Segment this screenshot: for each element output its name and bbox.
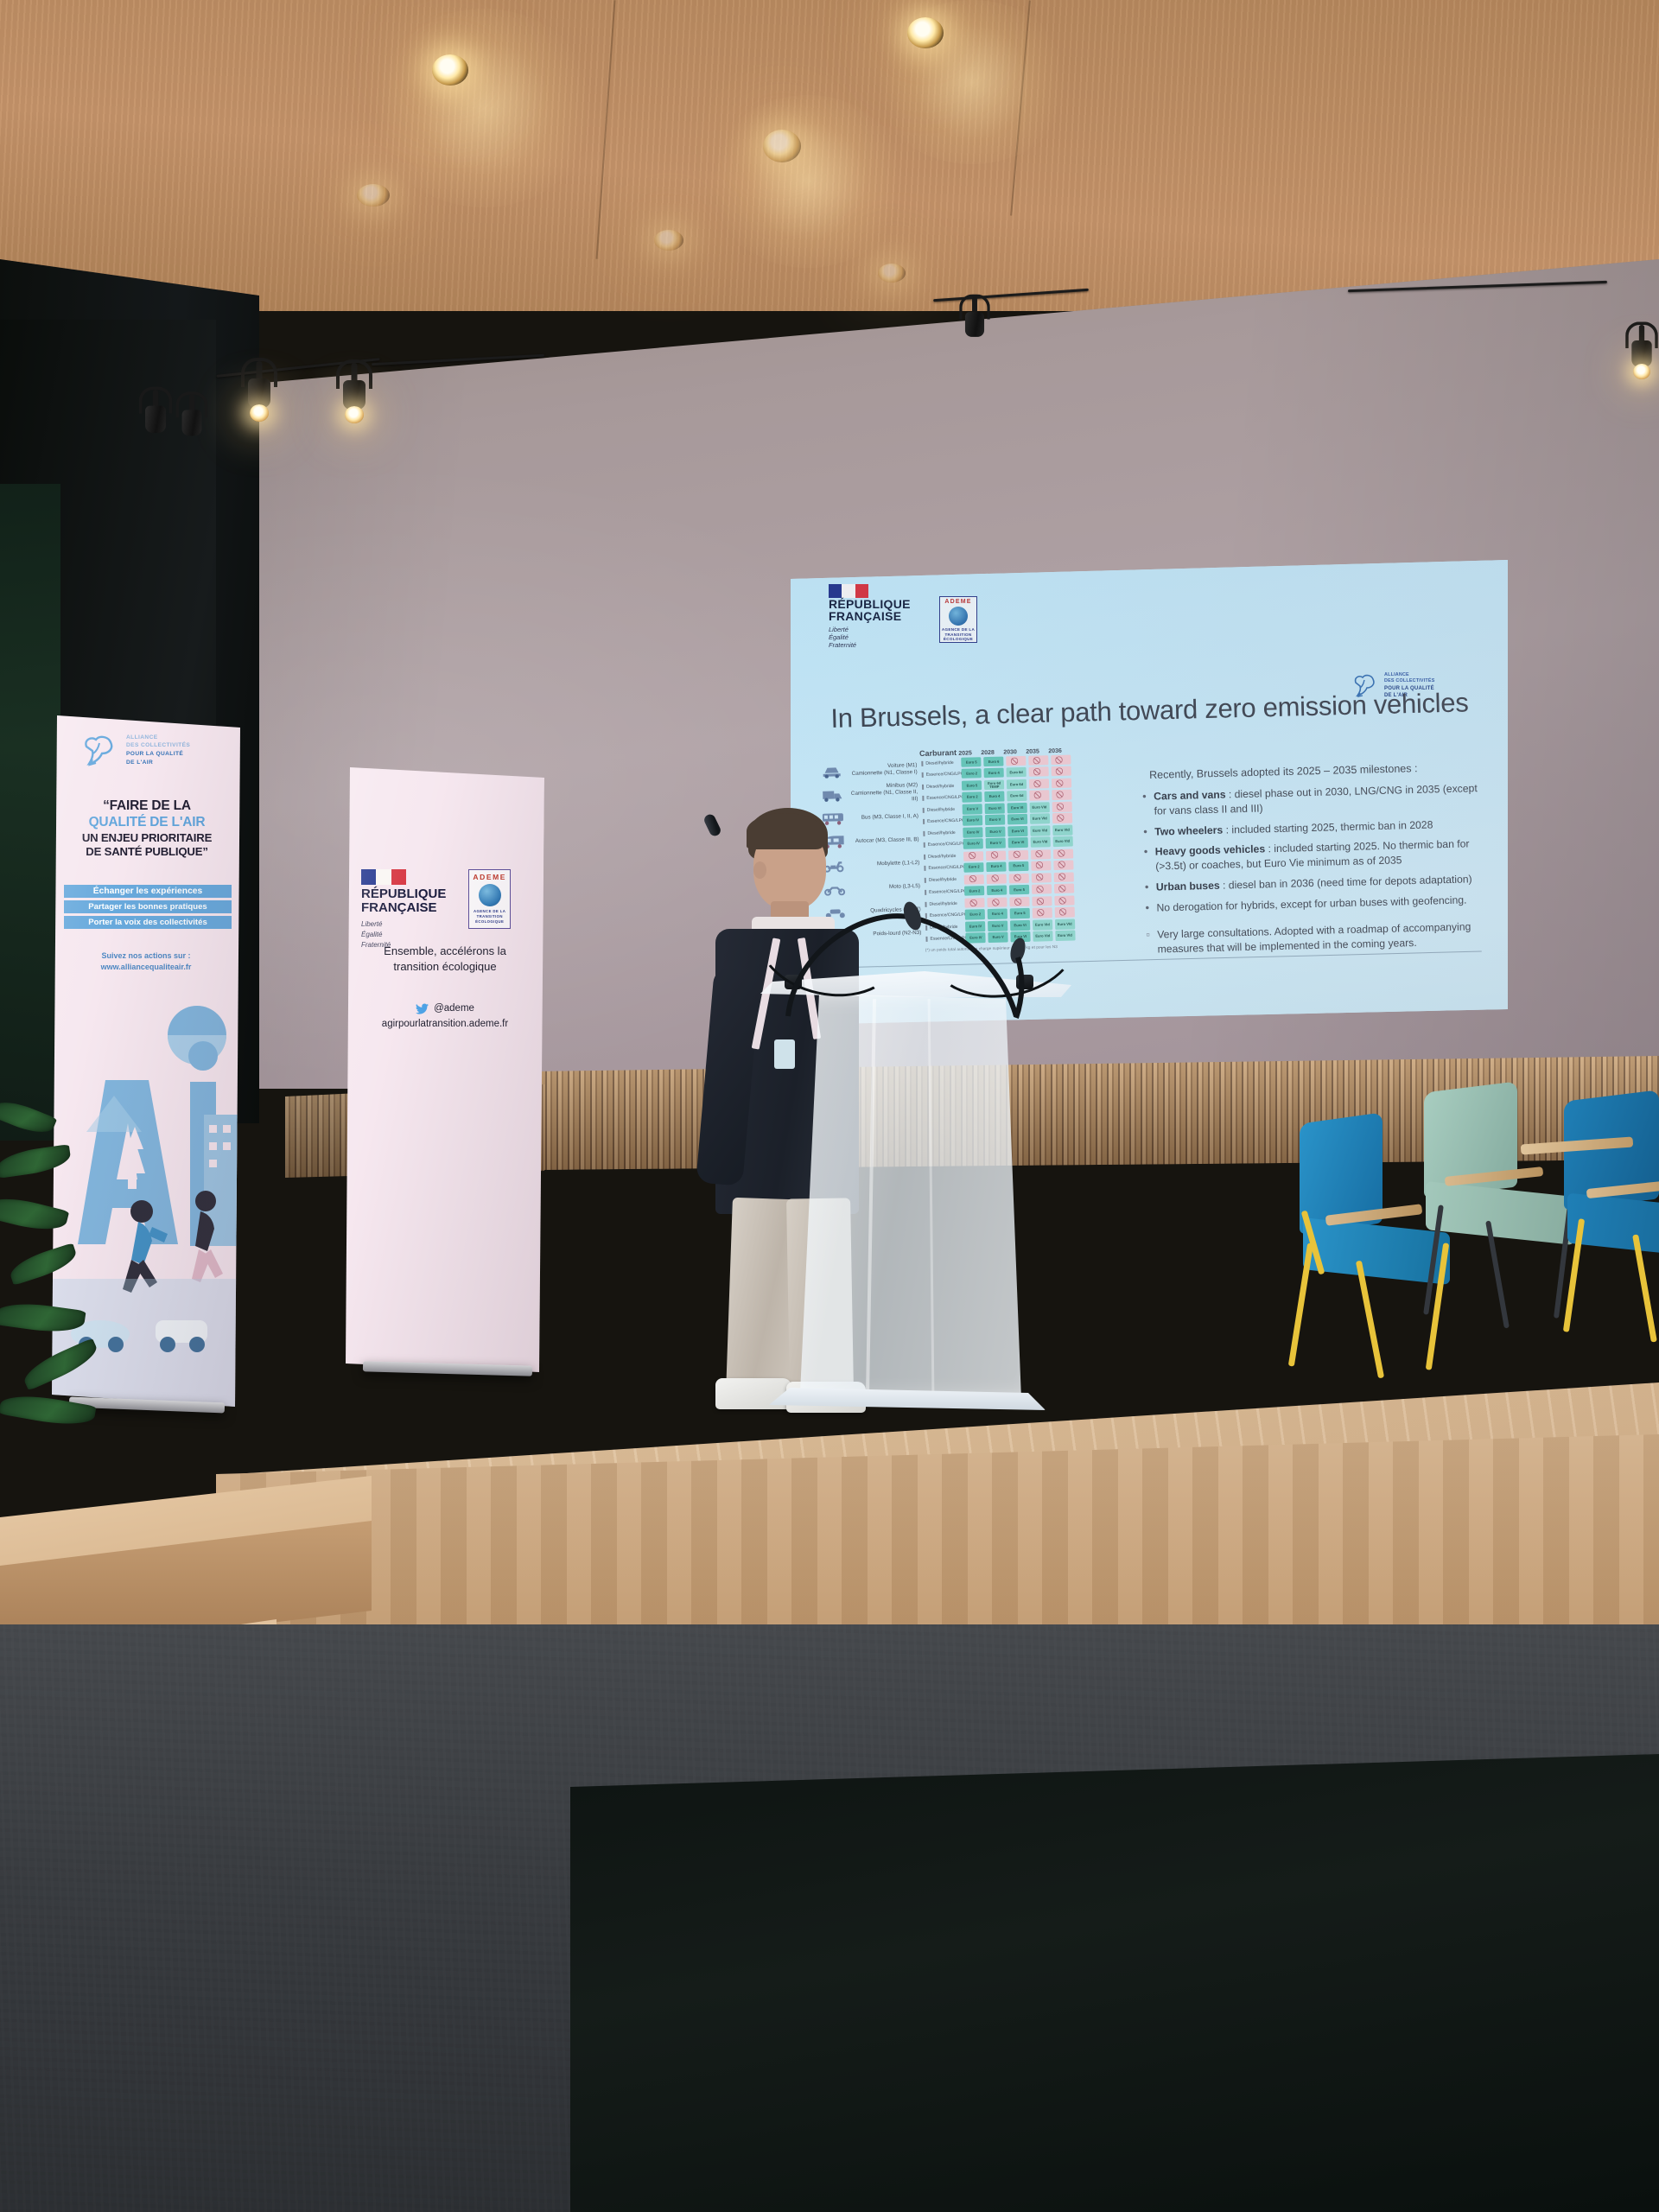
republique-francaise-block: RÉPUBLIQUE FRANÇAISE Liberté Égalité Fra… <box>361 869 446 950</box>
stage-spotlight <box>960 297 989 356</box>
curtain-greenery <box>0 484 60 1141</box>
potted-plant <box>0 1089 104 1452</box>
ceiling-downlight-4 <box>357 184 390 207</box>
lectern <box>760 956 1071 1440</box>
alliance-website: www.alliancequaliteair.fr <box>52 962 240 973</box>
globe-icon <box>479 884 501 906</box>
foreground-equipment-block <box>570 1754 1659 2212</box>
alliance-banner-logo-text: ALLIANCE DES COLLECTIVITÉS POUR LA QUALI… <box>126 734 190 766</box>
conference-photo: RÉPUBLIQUE FRANÇAISE LibertéÉgalitéFrate… <box>0 0 1659 2212</box>
slogan-line-1: Ensemble, accélérons la <box>346 944 544 959</box>
wooden-ceiling <box>0 0 1659 311</box>
ceiling-downlight-3 <box>907 17 944 48</box>
follow-label: Suivez nos actions sur : <box>52 950 240 962</box>
rf-line2: FRANÇAISE <box>361 901 446 915</box>
lung-bird-icon <box>79 733 121 767</box>
microphone-right[interactable] <box>952 921 1065 1007</box>
bar-echanger: Échanger les expériences <box>64 885 232 898</box>
microphone-left[interactable] <box>766 921 878 1007</box>
ear <box>753 861 766 879</box>
alliance-banner-follow: Suivez nos actions sur : www.alliancequa… <box>52 950 240 973</box>
ceiling-downlight-6 <box>878 264 906 283</box>
twitter-icon <box>416 1003 429 1014</box>
stage-spotlight <box>1626 325 1657 387</box>
slogan-line-2: transition écologique <box>346 959 544 975</box>
bar-porter: Porter la voix des collectivités <box>64 916 232 929</box>
rollup-banner-ademe: RÉPUBLIQUE FRANÇAISE Liberté Égalité Fra… <box>346 767 544 1372</box>
ademe-sub: AGENCE DE LA TRANSITION ÉCOLOGIQUE <box>473 909 506 925</box>
ademe-banner-slogan: Ensemble, accélérons la transition écolo… <box>346 944 544 976</box>
stage-spotlight <box>140 390 172 454</box>
ceiling-downlight-5 <box>654 230 683 251</box>
lectern-body <box>786 994 1037 1400</box>
french-flag-icon <box>361 869 406 885</box>
ceiling-downlight-2 <box>763 130 801 162</box>
stage-spotlight <box>242 361 276 430</box>
twitter-handle: @ademe <box>434 1001 474 1016</box>
alliance-banner-quote: “FAIRE DE LA QUALITÉ DE L'AIR UN ENJEU P… <box>60 798 233 859</box>
alliance-banner-bars: Échanger les expériences Partager les bo… <box>64 885 232 931</box>
ceiling-downlight-1 <box>432 54 468 86</box>
ademe-website: agirpourlatransition.ademe.fr <box>346 1016 544 1032</box>
ademe-banner-social: @ademe agirpourlatransition.ademe.fr <box>346 1001 544 1033</box>
bar-partager: Partager les bonnes pratiques <box>64 900 232 913</box>
quote-line-3: UN ENJEU PRIORITAIRE <box>60 831 233 845</box>
quote-line-4: DE SANTÉ PUBLIQUE” <box>60 845 233 859</box>
rf-line1: RÉPUBLIQUE <box>361 887 446 901</box>
quote-line-2: QUALITÉ DE L'AIR <box>60 815 233 831</box>
ademe-banner-logos: RÉPUBLIQUE FRANÇAISE Liberté Égalité Fra… <box>361 869 511 950</box>
stage-spotlight <box>176 395 207 455</box>
chair-blue-right[interactable] <box>1555 1096 1659 1338</box>
ademe-logo-box: ADEME AGENCE DE LA TRANSITION ÉCOLOGIQUE <box>468 869 511 929</box>
stage-spotlight <box>337 363 372 432</box>
alliance-banner-logo: ALLIANCE DES COLLECTIVITÉS POUR LA QUALI… <box>79 733 190 767</box>
quote-line-1: “FAIRE DE LA <box>60 798 233 815</box>
ademe-name: ADEME <box>473 873 506 881</box>
